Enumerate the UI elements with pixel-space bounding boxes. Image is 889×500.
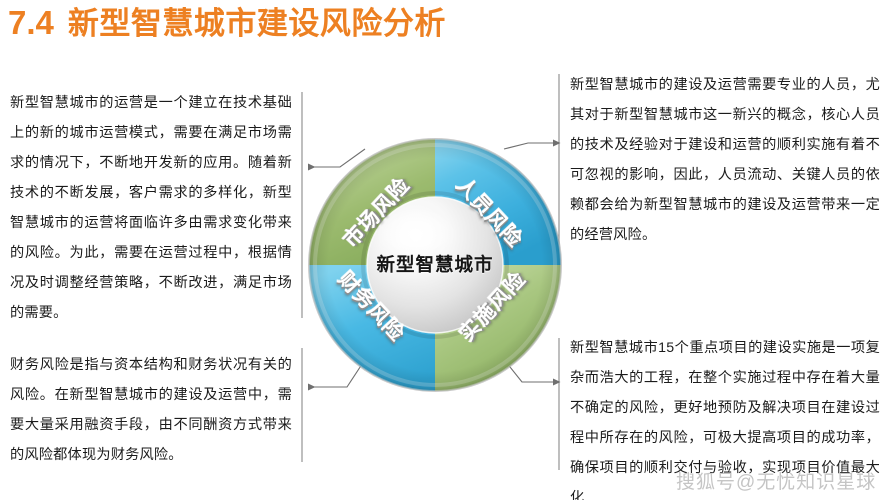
- title-heading-text: 新型智慧城市建设风险分析: [68, 8, 446, 39]
- paragraph-people-risk: 新型智慧城市的建设及运营需要专业的人员，尤其对于新型智慧城市这一新兴的概念，核心…: [570, 70, 880, 250]
- title-section-number: 7.4: [8, 6, 54, 39]
- paragraph-market-risk: 新型智慧城市的运营是一个建立在技术基础上的新的城市运营模式，需要在满足市场需求的…: [10, 88, 292, 328]
- watermark-text: 搜狐号@无忧知识星球: [676, 467, 876, 494]
- page-title: 7.4 新型智慧城市建设风险分析: [8, 6, 446, 39]
- risk-donut-diagram: 市场风险 人员风险 财务风险 实施风险 新型智慧城市: [308, 138, 562, 392]
- diagram-center-label: 新型智慧城市: [308, 251, 562, 277]
- slide-canvas: 7.4 新型智慧城市建设风险分析: [0, 0, 889, 500]
- paragraph-finance-risk: 财务风险是指与资本结构和财务状况有关的风险。在新型智慧城市的建设及运营中，需要大…: [10, 350, 292, 470]
